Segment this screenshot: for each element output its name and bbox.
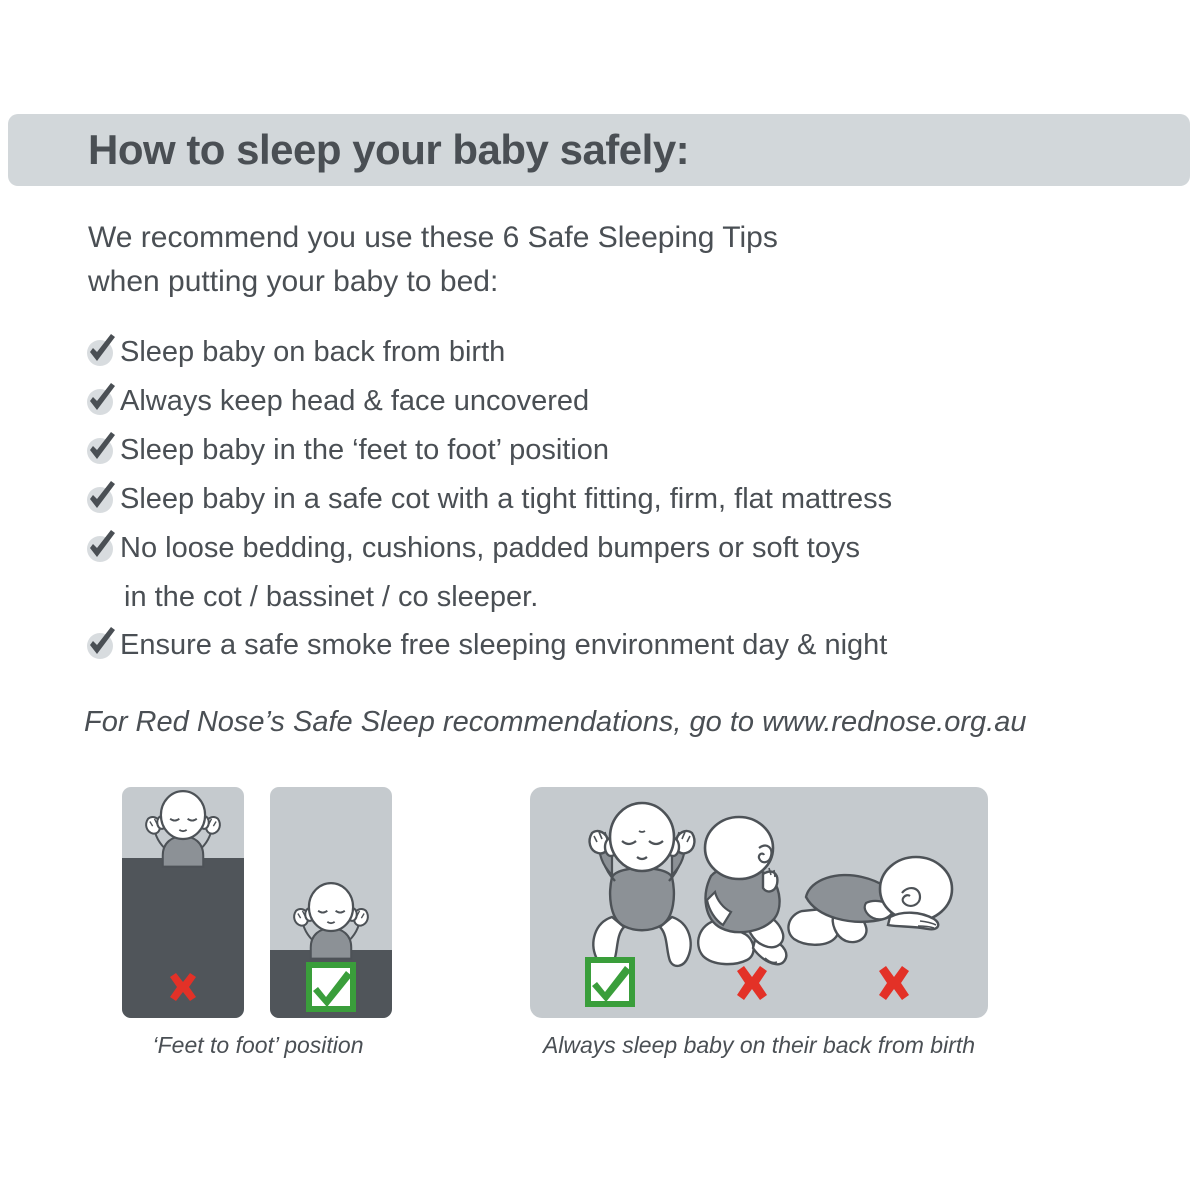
check-mark-icon <box>84 430 120 470</box>
intro-text: We recommend you use these 6 Safe Sleepi… <box>88 216 778 304</box>
list-item-label: Sleep baby in a safe cot with a tight fi… <box>120 477 892 521</box>
figure-back-sleeping <box>530 787 988 1018</box>
safe-sleeping-tips-list: Sleep baby on back from birth Always kee… <box>84 330 1144 672</box>
figure-feet-to-foot <box>122 787 392 1018</box>
check-mark-icon <box>84 528 120 568</box>
list-item-label: Ensure a safe smoke free sleeping enviro… <box>120 623 887 667</box>
check-box-icon <box>309 965 353 1009</box>
list-item-label: No loose bedding, cushions, padded bumpe… <box>120 526 860 570</box>
check-box-icon <box>588 960 632 1004</box>
list-item-label: Sleep baby in the ‘feet to foot’ positio… <box>120 428 609 472</box>
list-item: Sleep baby in the ‘feet to foot’ positio… <box>84 428 1144 476</box>
figure-caption-back-sleeping: Always sleep baby on their back from bir… <box>500 1032 1018 1059</box>
check-mark-icon <box>84 381 120 421</box>
page-title: How to sleep your baby safely: <box>88 118 689 182</box>
list-item-label: Always keep head & face uncovered <box>120 379 589 423</box>
figure-caption-feet-to-foot: ‘Feet to foot’ position <box>122 1032 394 1059</box>
list-item: Always keep head & face uncovered <box>84 379 1144 427</box>
list-item-continuation: in the cot / bassinet / co sleeper. <box>84 575 1144 623</box>
list-item: Sleep baby in a safe cot with a tight fi… <box>84 477 1144 525</box>
list-item-label: Sleep baby on back from birth <box>120 330 505 374</box>
check-mark-icon <box>84 625 120 665</box>
cot-panel-correct <box>270 787 392 1018</box>
safe-sleeping-poster: How to sleep your baby safely: We recomm… <box>0 0 1200 1190</box>
list-item: No loose bedding, cushions, padded bumpe… <box>84 526 1144 574</box>
list-item: Ensure a safe smoke free sleeping enviro… <box>84 623 1144 671</box>
cot-panel-wrong <box>122 787 244 1018</box>
list-item: Sleep baby on back from birth <box>84 330 1144 378</box>
recommendations-note: For Red Nose’s Safe Sleep recommendation… <box>84 706 1026 739</box>
check-mark-icon <box>84 479 120 519</box>
check-mark-icon <box>84 332 120 372</box>
